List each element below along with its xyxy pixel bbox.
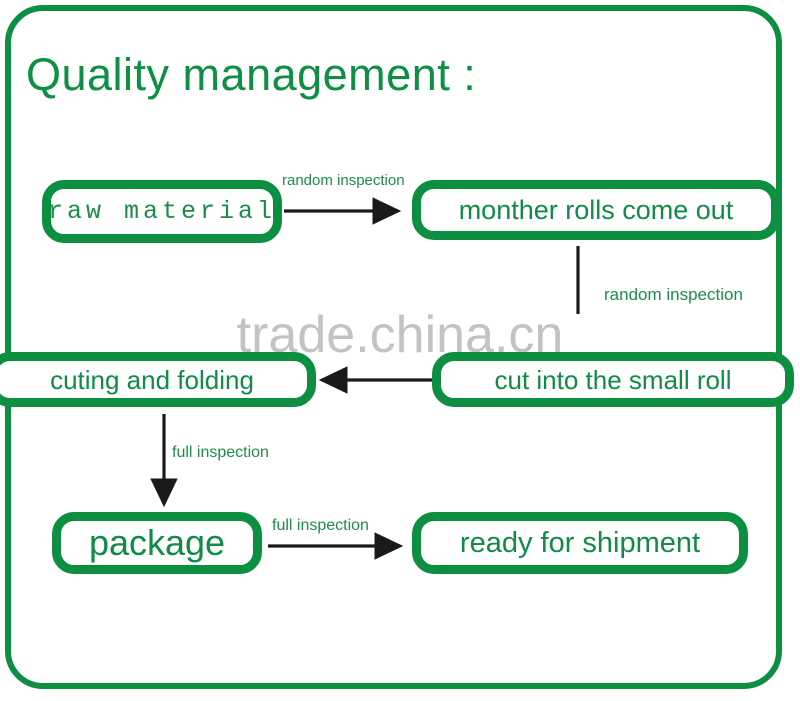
node-cuting-and-folding[interactable]: cuting and folding [0,352,316,407]
node-monther-rolls-come-out[interactable]: monther rolls come out [412,180,780,240]
edge-label-random-inspection-2: random inspection [604,286,743,303]
node-cut-into-the-small-roll-label: cut into the small roll [495,367,732,393]
edge-label-full-inspection-1: full inspection [172,445,269,461]
node-ready-for-shipment-label: ready for shipment [460,529,700,558]
node-package-label: package [89,525,225,561]
node-cuting-and-folding-label: cuting and folding [50,367,254,393]
node-package[interactable]: package [52,512,262,574]
edge-label-full-inspection-2: full inspection [272,518,369,534]
edge-label-random-inspection-1: random inspection [282,173,405,188]
connector-arrows [0,0,800,701]
outer-border-frame [5,5,782,689]
node-monther-rolls-come-out-label: monther rolls come out [459,197,734,224]
node-raw-material[interactable]: raw material [42,180,282,243]
diagram-canvas: Quality management : trade.china.cn [0,0,800,701]
page-title: Quality management : [26,52,476,97]
node-ready-for-shipment[interactable]: ready for shipment [412,512,748,574]
node-raw-material-label: raw material [48,199,276,224]
node-cut-into-the-small-roll[interactable]: cut into the small roll [432,352,794,407]
